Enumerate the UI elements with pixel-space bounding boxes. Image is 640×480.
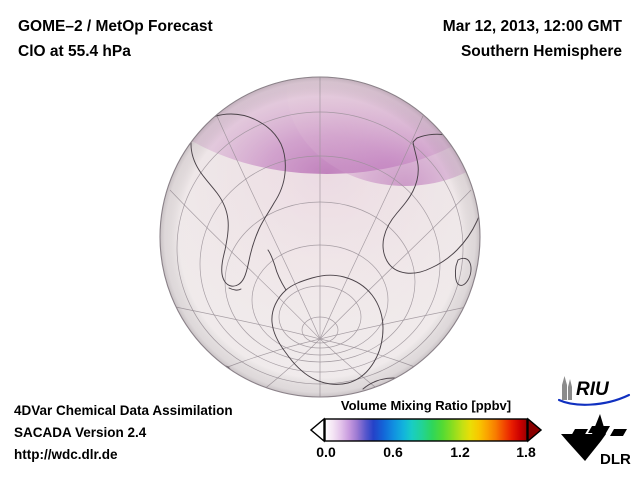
orthographic-globe	[155, 72, 485, 402]
hemisphere-label: Southern Hemisphere	[443, 39, 622, 64]
colorbar-extend-min-arrow	[311, 419, 324, 441]
globe-contents	[155, 72, 485, 402]
dlr-logo: DLR	[559, 412, 635, 470]
colorbar-tick-2: 1.2	[450, 444, 469, 460]
colorbar-gradient	[310, 417, 542, 443]
globe-map-panel	[155, 72, 485, 402]
instrument-title: GOME–2 / MetOp Forecast	[18, 14, 213, 39]
method-label: 4DVar Chemical Data Assimilation	[14, 400, 233, 422]
version-label: SACADA Version 2.4	[14, 422, 233, 444]
species-level-title: ClO at 55.4 hPa	[18, 39, 213, 64]
coastline-new-zealand	[455, 368, 470, 372]
colorbar-extend-max-arrow	[528, 419, 541, 441]
website-url: http://wdc.dlr.de	[14, 444, 233, 466]
colorbar-title: Volume Mixing Ratio [ppbv]	[310, 398, 542, 413]
colorbar-tick-0: 0.0	[316, 444, 335, 460]
riu-logo-graphic: RIU	[556, 374, 632, 408]
riu-spires-icon	[562, 376, 572, 400]
dlr-wordmark: DLR	[600, 451, 631, 468]
timestamp-label: Mar 12, 2013, 12:00 GMT	[443, 14, 622, 39]
riu-logo: RIU	[556, 374, 632, 408]
colorbar-tick-1: 0.6	[383, 444, 402, 460]
riu-wordmark: RIU	[576, 379, 610, 400]
limb-shading	[160, 77, 480, 397]
colorbar-tick-labels: 0.0 0.6 1.2 1.8	[310, 444, 542, 464]
colorbar-bar	[325, 419, 527, 441]
colorbar: Volume Mixing Ratio [ppbv]	[310, 398, 542, 464]
colorbar-tick-3: 1.8	[516, 444, 535, 460]
footer-left: 4DVar Chemical Data Assimilation SACADA …	[14, 400, 233, 466]
header-left: GOME–2 / MetOp Forecast ClO at 55.4 hPa	[18, 14, 213, 64]
header-right: Mar 12, 2013, 12:00 GMT Southern Hemisph…	[443, 14, 622, 64]
dlr-logo-graphic: DLR	[559, 412, 635, 470]
